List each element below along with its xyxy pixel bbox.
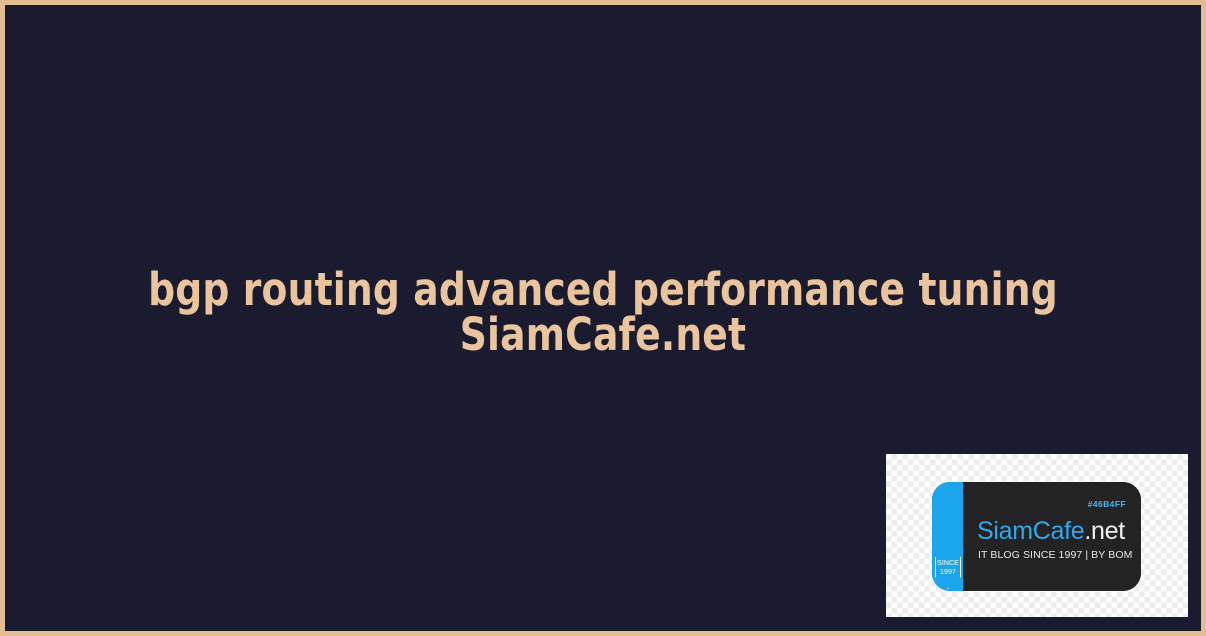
- brand-wordmark: SiamCafe.net: [977, 519, 1125, 544]
- badge-text: SINCE 1997: [935, 560, 961, 577]
- siamcafe-logo-card: SINCE 1997 #46B4FF SiamCafe.net IT BLOG …: [932, 482, 1141, 591]
- page-title: bgp routing advanced performance tuning …: [103, 267, 1104, 357]
- brand-tagline: IT BLOG SINCE 1997 | BY BOM: [978, 549, 1132, 561]
- badge-line-year: 1997: [935, 569, 961, 578]
- badge-line-since: SINCE: [935, 560, 961, 569]
- hero-section: bgp routing advanced performance tuning …: [5, 267, 1201, 357]
- page-root: bgp routing advanced performance tuning …: [0, 0, 1206, 636]
- brand-name-text: SiamCafe: [977, 517, 1084, 545]
- logo-preview-panel: SINCE 1997 #46B4FF SiamCafe.net IT BLOG …: [886, 454, 1188, 617]
- logo-card-body: #46B4FF SiamCafe.net IT BLOG SINCE 1997 …: [963, 482, 1141, 591]
- brand-tld-text: .net: [1084, 517, 1125, 545]
- hex-color-code: #46B4FF: [1088, 499, 1126, 509]
- logo-accent-stripe: SINCE 1997: [932, 482, 963, 591]
- since-1997-badge: SINCE 1997: [935, 557, 961, 589]
